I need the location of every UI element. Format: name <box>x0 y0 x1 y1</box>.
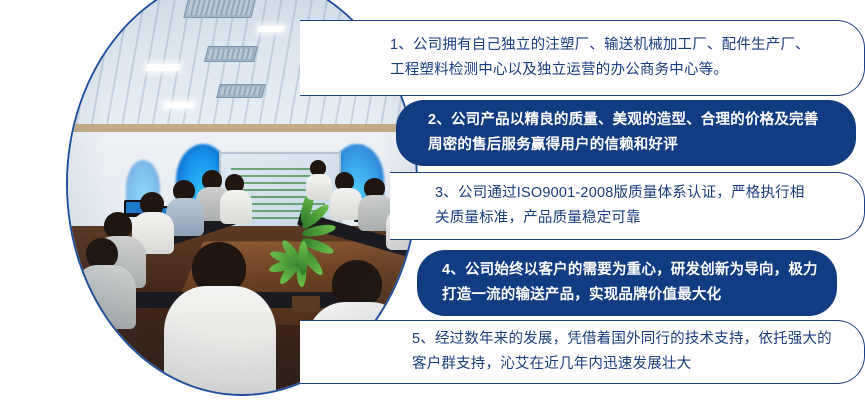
advantage-text-3: 3、公司通过ISO9001-2008版质量体系认证，严格执行相 关质量标准，产品… <box>435 181 805 231</box>
advantage-text-4: 4、公司始终以客户的需要为重心，研发创新为导向，极力 打造一流的输送产品，实现品… <box>442 258 818 308</box>
advantage-text-5: 5、经过数年来的发展，凭借着国外同行的技术支持，依托强大的 客户群支持，沁艾在近… <box>412 327 832 377</box>
ceiling-lamp-5 <box>257 26 285 32</box>
promo-banner: 1、公司拥有自己独立的注塑厂、输送机械加工厂、配件生产厂、 工程塑料检测中心以及… <box>0 0 865 408</box>
advantage-text-2: 2、公司产品以精良的质量、美观的造型、合理的价格及完善 周密的售后服务赢得用户的… <box>428 108 818 158</box>
advantage-panel-2: 2、公司产品以精良的质量、美观的造型、合理的价格及完善 周密的售后服务赢得用户的… <box>396 100 856 166</box>
advantage-panel-4: 4、公司始终以客户的需要为重心，研发创新为导向，极力 打造一流的输送产品，实现品… <box>417 250 837 316</box>
ceiling-vent-3 <box>216 84 265 98</box>
ceiling-vent-1 <box>183 0 256 18</box>
ceiling-lamp-2 <box>163 102 195 108</box>
ceiling-lamp-1 <box>145 64 181 71</box>
advantage-text-1: 1、公司拥有自己独立的注塑厂、输送机械加工厂、配件生产厂、 工程塑料检测中心以及… <box>390 33 810 83</box>
wall-trim <box>68 124 416 132</box>
advantage-panel-3: 3、公司通过ISO9001-2008版质量体系认证，严格执行相 关质量标准，产品… <box>390 172 865 240</box>
advantage-panel-5: 5、经过数年来的发展，凭借着国外同行的技术支持，依托强大的 客户群支持，沁艾在近… <box>300 320 865 384</box>
advantage-panel-1: 1、公司拥有自己独立的注塑厂、输送机械加工厂、配件生产厂、 工程塑料检测中心以及… <box>300 20 865 96</box>
ceiling-vent-2 <box>204 46 258 62</box>
